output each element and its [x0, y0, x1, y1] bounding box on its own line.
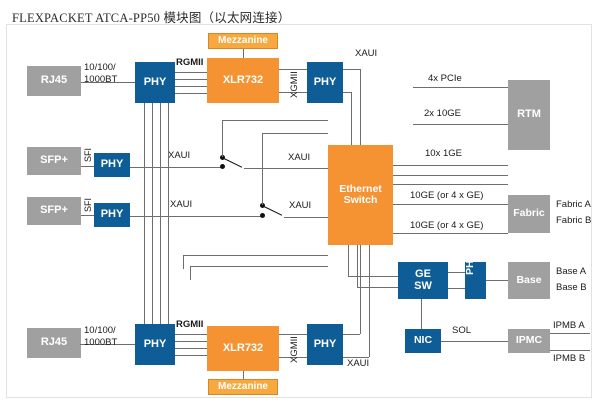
wire-gesw-to-phybase-1	[448, 272, 465, 273]
label-10-100-1000bt-bottom-line1: 10/100/	[84, 325, 116, 336]
label-xgmii-top: XGMII	[289, 71, 300, 98]
block-xlr732-bottom[interactable]: XLR732	[207, 326, 279, 371]
wire-gesw-to-phybase-2	[448, 288, 465, 289]
label-xgmii-bottom: XGMII	[289, 336, 300, 363]
wire-switch-2-out	[284, 217, 328, 218]
block-base[interactable]: Base	[508, 262, 550, 299]
wire-xlr-link-2	[190, 266, 191, 280]
wire-rgmii-top-1	[175, 72, 207, 73]
label-xaui-sfp2-left: XAUI	[170, 199, 192, 210]
wire-xaui-top-a	[343, 69, 360, 70]
wire-eth-to-gesw-1	[348, 245, 349, 276]
wire-rgmii-top-3	[175, 86, 207, 87]
wire-10x-1ge-2	[393, 175, 508, 176]
label-10x-1ge: 10x 1GE	[425, 148, 462, 159]
wire-10x-1ge-3	[393, 184, 508, 185]
wire-xaui-bottom-a	[343, 334, 360, 335]
wire-ipmb-a	[550, 333, 590, 334]
block-rj45-bottom[interactable]: RJ45	[27, 328, 81, 358]
wire-switch-1-up	[222, 120, 223, 157]
block-phy-sfp-1[interactable]: PHY	[94, 153, 130, 177]
block-sfp-plus-2[interactable]: SFP+	[27, 197, 81, 225]
block-phy-top-left[interactable]: PHY	[135, 62, 175, 103]
label-rgmii-bottom: RGMII	[176, 319, 203, 330]
wire-xlr-link-2h	[190, 266, 328, 267]
wire-vbus-2	[152, 103, 153, 329]
block-phy-top-right[interactable]: PHY	[307, 62, 343, 103]
block-mezzanine-bottom[interactable]: Mezzanine	[208, 379, 278, 395]
wire-switch-1-to-eth	[222, 120, 328, 121]
label-10-100-1000bt-top-line2: 1000BT	[84, 74, 117, 85]
label-rgmii-top: RGMII	[176, 57, 203, 68]
label-fabric-link-b: 10GE (or 4 x GE)	[410, 220, 483, 231]
wire-switch-2-up	[262, 133, 263, 205]
block-ge-sw[interactable]: GE SW	[398, 262, 448, 299]
wire-eth-to-gesw-2	[357, 245, 358, 287]
wire-sfp2-to-phy	[81, 215, 94, 216]
wire-switch-1-out	[244, 168, 328, 169]
label-base-a: Base A	[556, 266, 586, 277]
wire-xgmii-top-1	[279, 69, 307, 70]
block-rtm[interactable]: RTM	[508, 80, 550, 150]
block-ipmc[interactable]: IPMC	[508, 329, 550, 353]
block-nic[interactable]: NIC	[405, 329, 441, 353]
wire-xaui-top-b	[343, 92, 351, 93]
wire-phybase-to-base	[486, 280, 508, 281]
label-xaui-sfp1-right: XAUI	[288, 152, 310, 163]
wire-ipmb-b	[550, 350, 590, 351]
switch-1-terminal-bottom[interactable]	[220, 164, 225, 169]
block-phy-base[interactable]: PHY	[465, 262, 486, 299]
wire-10x-1ge-1	[393, 165, 508, 166]
wire-rgmii-top-4	[175, 93, 207, 94]
wire-rgmii-bottom-1	[175, 334, 207, 335]
wire-xgmii-bottom-1	[279, 334, 307, 335]
label-xaui-sfp1-left: XAUI	[168, 150, 190, 161]
block-phy-bottom-right[interactable]: PHY	[307, 324, 343, 365]
wire-sfp1-to-phy	[81, 166, 94, 167]
label-sfi-2: SFI	[83, 198, 93, 212]
wire-xaui-top-b-down	[351, 92, 352, 145]
wire-rgmii-bottom-3	[175, 348, 207, 349]
wire-xaui-bottom-b-up	[369, 245, 370, 357]
wire-xaui-bottom-a-up	[360, 245, 361, 334]
label-10-100-1000bt-bottom-line2: 1000BT	[84, 337, 117, 348]
label-10-100-1000bt-top-line1: 10/100/	[84, 62, 116, 73]
wire-vbus-1	[144, 103, 145, 329]
ethernet-switch-label-line2: Switch	[344, 195, 378, 206]
label-fabric-b: Fabric B	[556, 215, 591, 226]
label-xaui-top-right: XAUI	[355, 48, 377, 59]
wire-xlr-link-1	[183, 255, 184, 269]
wire-rgmii-bottom-2	[175, 341, 207, 342]
label-fabric-a: Fabric A	[556, 199, 591, 210]
phy-base-label: PHY	[465, 253, 476, 275]
wire-mezzanine-bottom	[243, 371, 244, 379]
label-xaui-bottom-right: XAUI	[347, 358, 369, 369]
block-xlr732-top[interactable]: XLR732	[207, 58, 279, 103]
block-mezzanine-top[interactable]: Mezzanine	[208, 33, 278, 49]
switch-2-terminal-bottom[interactable]	[260, 213, 265, 218]
wire-vbus-3	[160, 103, 161, 329]
label-ipmb-b: IPMB B	[553, 353, 585, 364]
wire-4x-pcie	[413, 87, 508, 88]
wire-gesw-to-nic	[421, 299, 422, 329]
wire-xaui-sfp2-left	[130, 216, 262, 217]
label-base-b: Base B	[556, 282, 587, 293]
wire-switch-2-to-eth	[262, 133, 328, 134]
block-phy-bottom-left[interactable]: PHY	[135, 324, 175, 365]
wire-mezzanine-top	[243, 48, 244, 58]
wire-rgmii-bottom-4	[175, 355, 207, 356]
wire-eth-to-gesw-1h	[348, 276, 398, 277]
label-xaui-sfp2-right: XAUI	[289, 200, 311, 211]
block-rj45-top[interactable]: RJ45	[27, 66, 81, 96]
wire-2x-10ge	[413, 124, 508, 125]
label-sol: SOL	[452, 325, 471, 336]
block-sfp-plus-1[interactable]: SFP+	[27, 147, 81, 175]
wire-xlr-link-1h	[183, 255, 328, 256]
label-4x-pcie: 4x PCIe	[428, 73, 462, 84]
block-phy-sfp-2[interactable]: PHY	[94, 203, 130, 227]
wire-fabric-link-b	[393, 233, 508, 234]
label-2x-10ge: 2x 10GE	[424, 108, 461, 119]
block-ethernet-switch[interactable]: Ethernet Switch	[328, 145, 393, 245]
diagram-canvas: FLEXPACKET ATCA-PP50 模块图（以太网连接） 10/100/ …	[0, 0, 600, 404]
wire-xaui-top-a-down	[360, 69, 361, 145]
ge-sw-label-line2: SW	[414, 281, 432, 293]
block-fabric[interactable]: Fabric	[508, 195, 550, 233]
wire-fabric-link-a	[393, 204, 508, 205]
wire-eth-to-gesw-2h	[357, 287, 398, 288]
wire-rgmii-top-2	[175, 79, 207, 80]
label-sfi-1: SFI	[83, 148, 93, 162]
wire-sol	[441, 341, 508, 342]
wire-vbus-4	[168, 103, 169, 329]
ge-sw-label-line1: GE	[415, 269, 431, 281]
label-fabric-link-a: 10GE (or 4 x GE)	[410, 190, 483, 201]
label-ipmb-a: IPMB A	[553, 320, 585, 331]
